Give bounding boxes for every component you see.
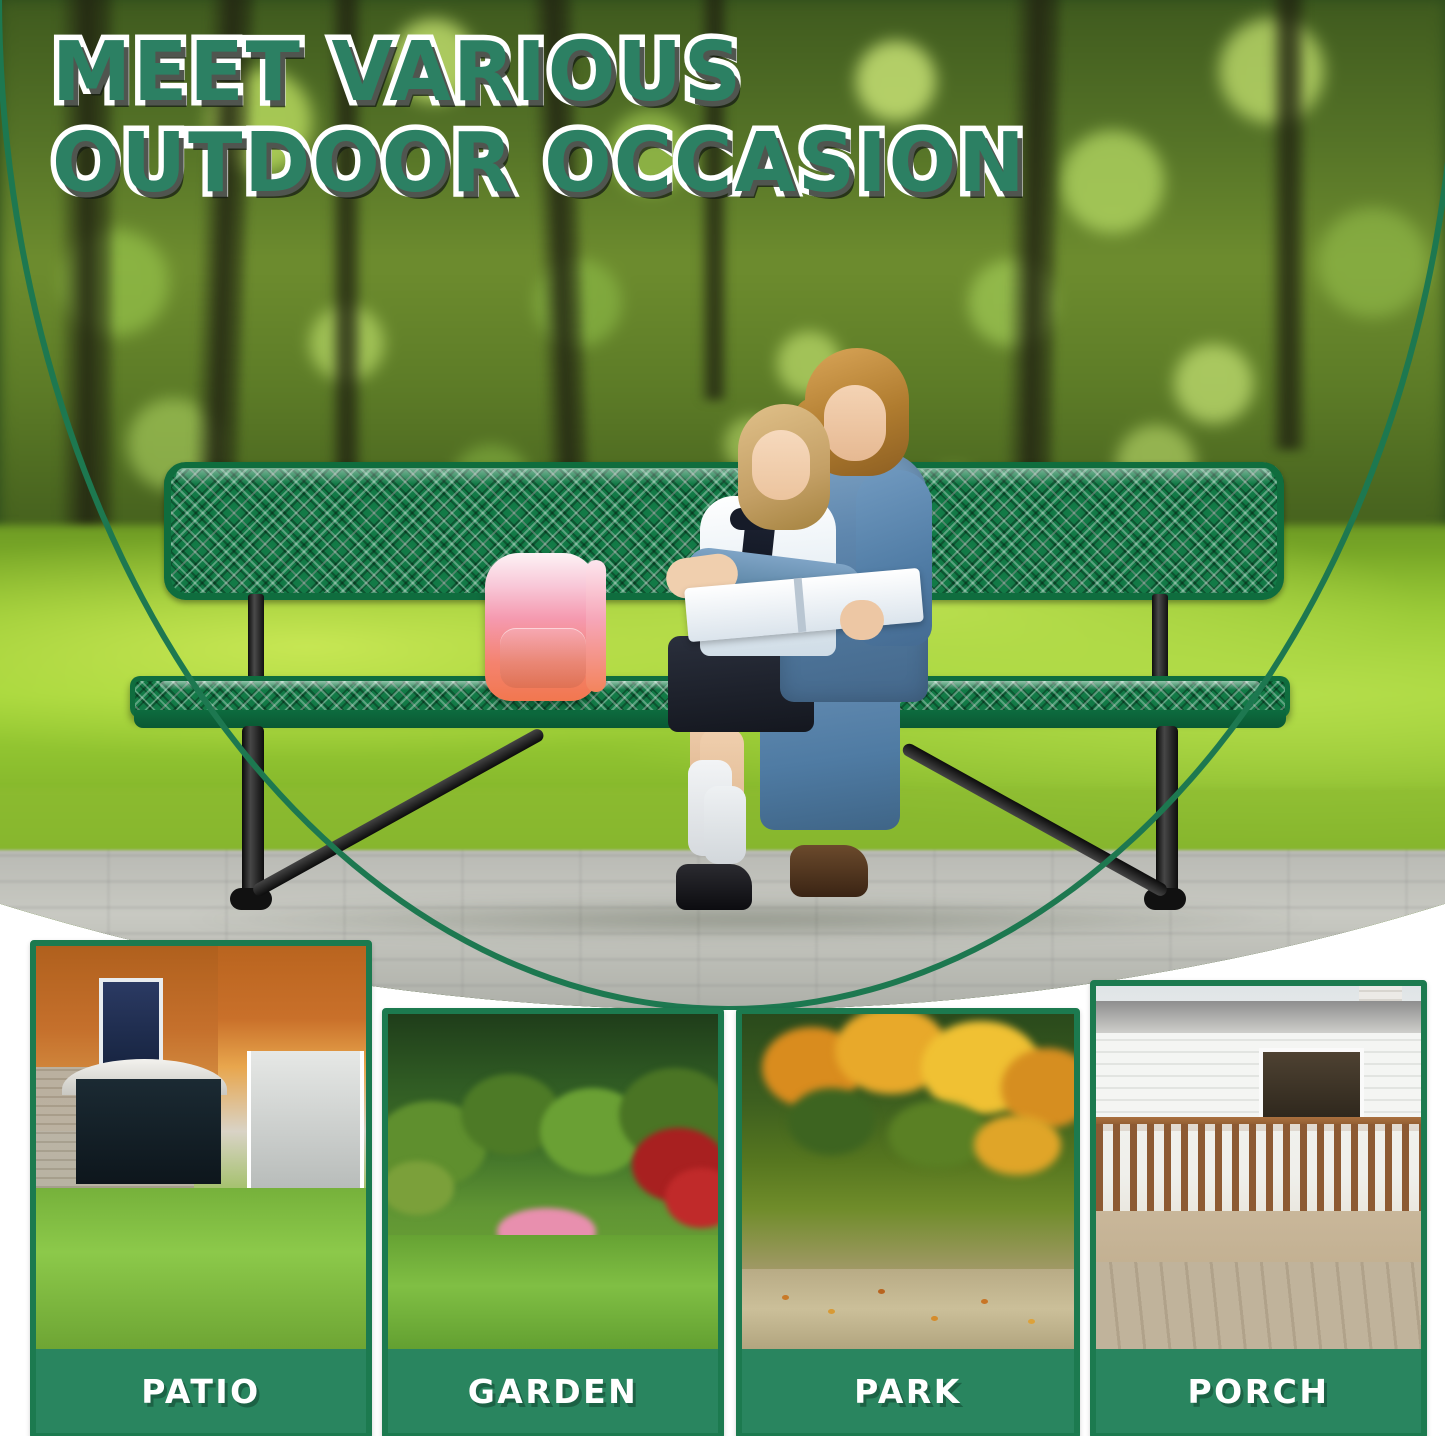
panel-park-photo — [742, 1014, 1074, 1349]
headline-line-1: MEET VARIOUS — [52, 34, 1032, 113]
panel-patio-caption: PATIO — [36, 1349, 366, 1433]
backpack-strap — [586, 560, 606, 692]
woman-sandal — [790, 845, 868, 897]
bench-brace — [251, 727, 546, 898]
panel-park-caption: PARK — [742, 1349, 1074, 1433]
tree-trunk — [1270, 0, 1304, 450]
panel-porch[interactable]: PORCH — [1090, 980, 1427, 1436]
panel-label: PATIO — [141, 1372, 260, 1411]
girl-face — [752, 430, 810, 500]
panel-garden-photo — [388, 1014, 718, 1349]
girl-shoe — [676, 864, 752, 910]
woman-hand — [840, 600, 884, 640]
bench-leg — [242, 726, 264, 902]
panel-park[interactable]: PARK — [736, 1008, 1080, 1436]
backrest-highlight — [176, 468, 1272, 484]
panel-label: PORCH — [1188, 1372, 1330, 1411]
panel-garden-caption: GARDEN — [388, 1349, 718, 1433]
panel-label: PARK — [854, 1372, 962, 1411]
woman-face — [824, 385, 886, 461]
panel-patio-photo — [36, 946, 366, 1349]
bench-leg — [1156, 726, 1178, 902]
panel-porch-photo — [1096, 986, 1421, 1349]
panel-label: GARDEN — [468, 1372, 639, 1411]
headline-line-2: OUTDOOR OCCASION — [52, 125, 1032, 204]
panel-patio[interactable]: PATIO — [30, 940, 372, 1436]
product-infographic: MEET VARIOUS OUTDOOR OCCASION — [0, 0, 1445, 1436]
panel-porch-caption: PORCH — [1096, 1349, 1421, 1433]
girl-sock — [704, 786, 746, 864]
panel-garden[interactable]: GARDEN — [382, 1008, 724, 1436]
use-case-panels: PATIO — [0, 940, 1445, 1436]
bench-brace — [900, 741, 1169, 898]
backpack-pocket — [500, 628, 586, 688]
headline: MEET VARIOUS OUTDOOR OCCASION — [52, 34, 1062, 203]
